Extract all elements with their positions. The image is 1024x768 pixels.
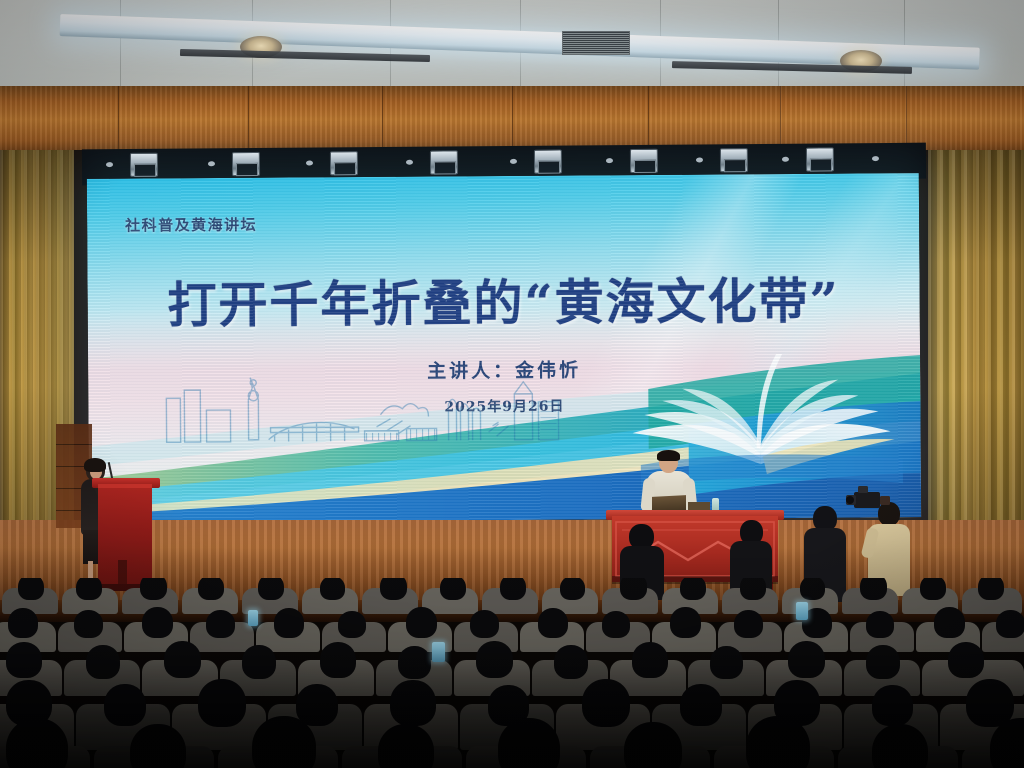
ceiling-vent-icon <box>562 31 630 55</box>
slide-title: 打开千年折叠的“黄海文化带” <box>87 261 919 338</box>
phone-screen <box>248 610 258 626</box>
screen-clamp-icon <box>806 147 834 171</box>
screen-clamp-icon <box>534 150 562 174</box>
stage-curtain-right <box>928 150 1024 582</box>
phone-screen <box>796 602 808 620</box>
auditorium-photo: 社科普及黄海讲坛 打开千年折叠的“黄海文化带” 主讲人：金伟忻 2025年9月2… <box>0 0 1024 768</box>
ceiling <box>0 0 1024 96</box>
led-presentation-screen: 社科普及黄海讲坛 打开千年折叠的“黄海文化带” 主讲人：金伟忻 2025年9月2… <box>87 173 921 523</box>
audience-shadow-overlay <box>0 648 1024 768</box>
screen-clamp-icon <box>720 148 748 172</box>
audience-seating <box>0 578 1024 768</box>
screen-clamp-icon <box>232 152 260 176</box>
slide-kicker: 社科普及黄海讲坛 <box>125 214 257 236</box>
seat-row <box>0 608 1024 648</box>
screen-clamp-icon <box>630 149 658 173</box>
video-camera-icon <box>846 484 894 514</box>
screen-clamp-icon <box>430 150 458 174</box>
screen-clamp-icon <box>330 151 358 175</box>
screen-clamp-icon <box>130 153 158 177</box>
